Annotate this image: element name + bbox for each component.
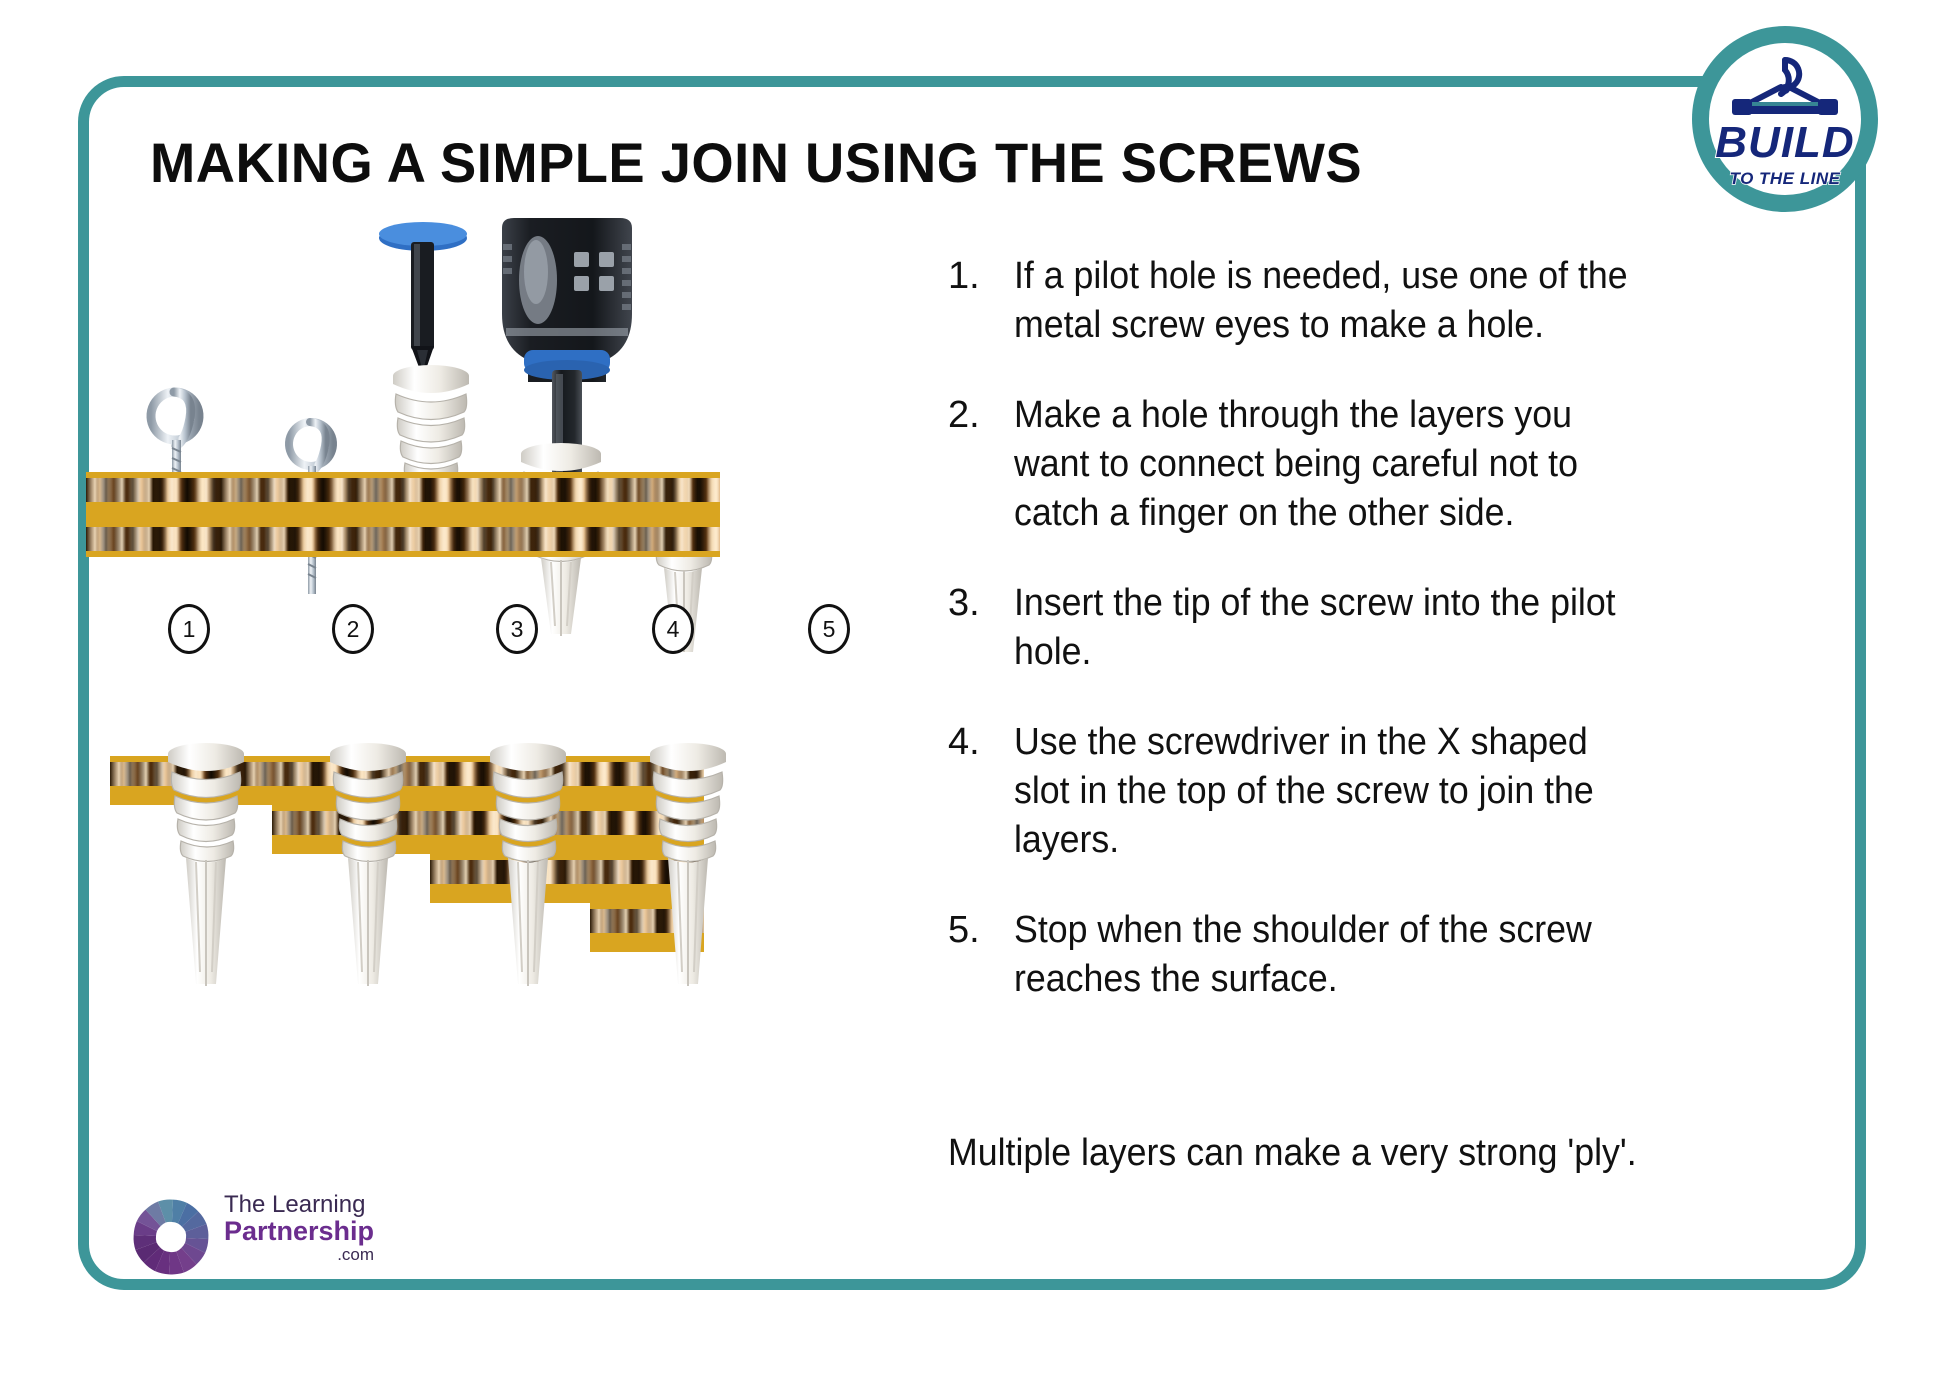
stage-marker-label: 5 (823, 616, 836, 643)
white-plastic-anchor-screw (470, 740, 586, 990)
poster-page: MAKING A SIMPLE JOIN USING THE SCREWS BU… (0, 0, 1946, 1376)
instruction-list: 1. If a pilot hole is needed, use one of… (948, 252, 1568, 1046)
logo-wordmark: BUILD (1692, 118, 1878, 168)
stage-marker-label: 2 (347, 616, 360, 643)
list-item-number: 5. (948, 906, 1004, 955)
logo-tagline: TO THE LINE (1692, 169, 1878, 189)
list-item-number: 4. (948, 718, 1004, 767)
white-plastic-anchor-screw (310, 740, 426, 990)
stage-marker-1: 1 (168, 604, 210, 654)
list-item: 4. Use the screwdriver in the X shaped s… (948, 718, 1568, 864)
corrugated-board-top (86, 472, 720, 557)
partner-logo-line3: .com (224, 1246, 374, 1265)
the-learning-partnership-logo: The Learning Partnership .com (128, 1188, 378, 1284)
list-item: 5. Stop when the shoulder of the screw r… (948, 906, 1568, 1003)
list-item-text: Use the screwdriver in the X shaped slot… (1014, 718, 1632, 864)
white-plastic-anchor-screw (630, 740, 746, 990)
stage-marker-5: 5 (808, 604, 850, 654)
list-item-text: If a pilot hole is needed, use one of th… (1014, 252, 1632, 349)
build-to-the-line-logo: BUILD TO THE LINE (1692, 26, 1878, 212)
partner-logo-line2: Partnership (224, 1217, 374, 1245)
phillips-bit-icon (368, 222, 478, 382)
list-item-number: 1. (948, 252, 1004, 301)
stage-marker-3: 3 (496, 604, 538, 654)
stage-marker-4: 4 (652, 604, 694, 654)
page-title: MAKING A SIMPLE JOIN USING THE SCREWS (150, 130, 1362, 195)
list-item: 3. Insert the tip of the screw into the … (948, 579, 1568, 676)
list-item-number: 3. (948, 579, 1004, 628)
closing-note: Multiple layers can make a very strong '… (948, 1132, 1637, 1175)
sunburst-mark-icon (128, 1194, 214, 1280)
stage-marker-label: 4 (667, 616, 680, 643)
list-item-text: Insert the tip of the screw into the pil… (1014, 579, 1632, 676)
stage-marker-label: 3 (511, 616, 524, 643)
list-item-text: Make a hole through the layers you want … (1014, 391, 1632, 537)
illustration: 1 2 3 4 5 (100, 200, 920, 1200)
stage-marker-label: 1 (183, 616, 196, 643)
list-item: 1. If a pilot hole is needed, use one of… (948, 252, 1568, 349)
list-item-number: 2. (948, 391, 1004, 440)
list-item-text: Stop when the shoulder of the screw reac… (1014, 906, 1632, 1003)
partner-logo-text: The Learning Partnership .com (224, 1192, 374, 1264)
white-plastic-anchor-screw (148, 740, 264, 990)
stage-marker-2: 2 (332, 604, 374, 654)
list-item: 2. Make a hole through the layers you wa… (948, 391, 1568, 537)
partner-logo-line1: The Learning (224, 1192, 374, 1217)
